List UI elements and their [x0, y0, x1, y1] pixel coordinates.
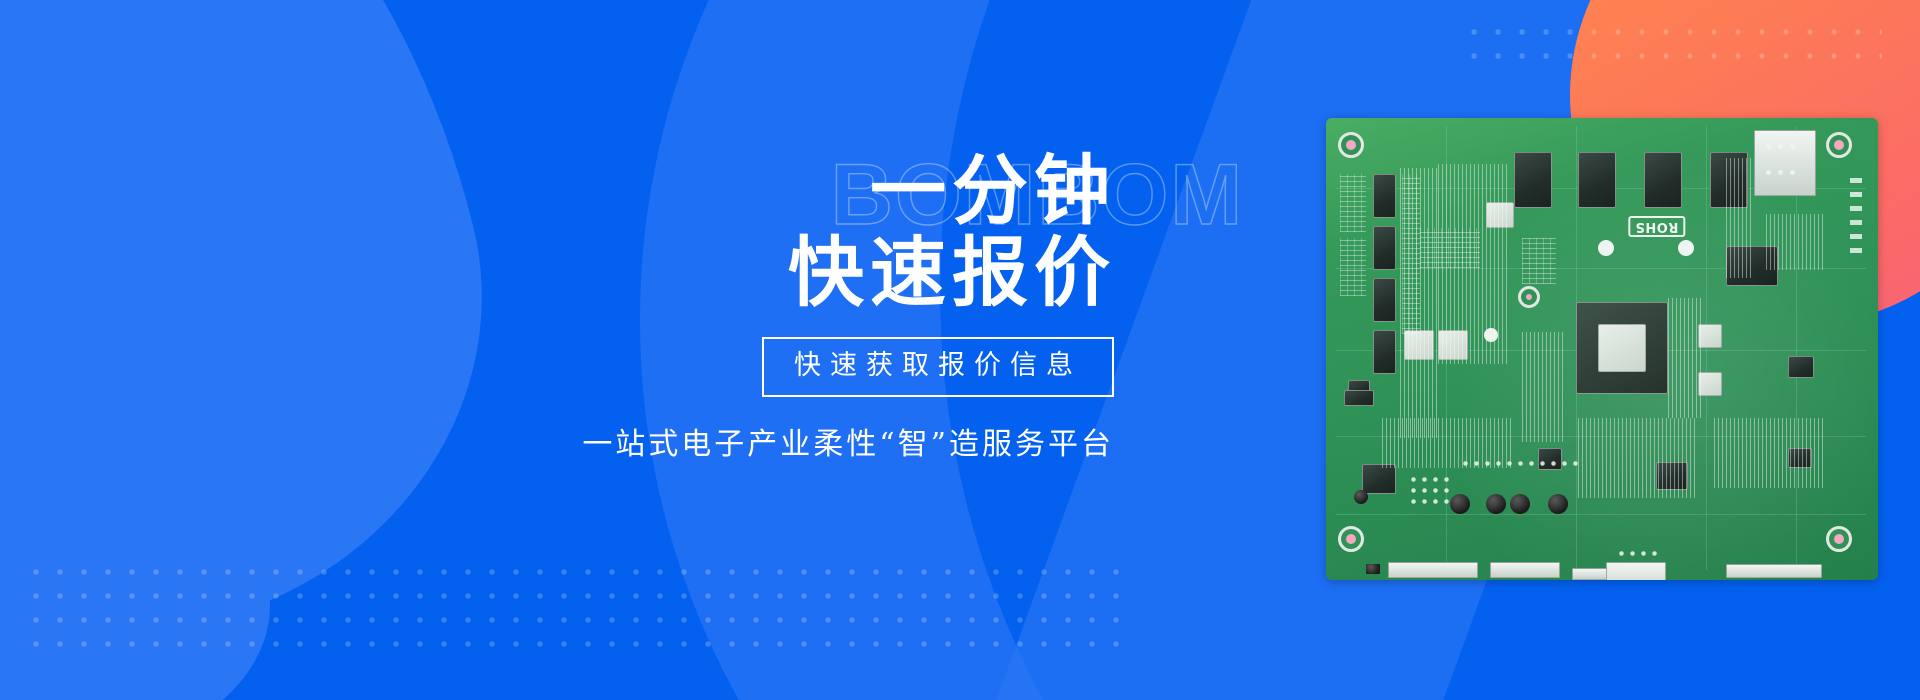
- copy-block: BOMBOM 一分钟 快速报价 快速获取报价信息 一站式电子产业柔性“智”造服务…: [494, 152, 1114, 463]
- io-tab: [1366, 564, 1380, 574]
- silkscreen-array: [1714, 418, 1824, 488]
- silkscreen: [1790, 170, 1795, 175]
- silkscreen-array: [1668, 298, 1704, 418]
- ic-chip: [1373, 330, 1396, 374]
- silkscreen-array: [1340, 174, 1366, 232]
- io-connector: [1490, 562, 1560, 578]
- silkscreen: [1766, 144, 1771, 149]
- mounting-pad: [1338, 526, 1364, 552]
- memory-chip: [1644, 152, 1682, 208]
- card-connector: [1754, 130, 1816, 196]
- header-pin: [1850, 178, 1862, 183]
- tagline: 一站式电子产业柔性“智”造服务平台: [494, 419, 1114, 463]
- pad-array: [1408, 474, 1450, 506]
- rohs-marking: ROHS: [1628, 216, 1685, 237]
- silkscreen-array: [1766, 214, 1826, 270]
- test-pad: [1678, 240, 1694, 256]
- silkscreen-array: [1340, 238, 1366, 296]
- silkscreen-array: [1522, 332, 1566, 442]
- header-pin: [1850, 206, 1862, 211]
- io-connector: [1726, 564, 1822, 578]
- pad-array: [1616, 548, 1662, 558]
- silkscreen: [1766, 170, 1771, 175]
- pcb-board: ROHS: [1326, 118, 1878, 580]
- ic-chip: [1788, 356, 1814, 378]
- ic-chip: [1373, 278, 1396, 322]
- silkscreen-array: [1420, 228, 1480, 268]
- silkscreen: [1778, 144, 1783, 149]
- mounting-pad: [1338, 132, 1364, 158]
- capacitor: [1486, 494, 1506, 514]
- silkscreen-array: [1522, 238, 1556, 284]
- silkscreen-array: [1382, 418, 1512, 468]
- ic-chip: [1362, 464, 1396, 494]
- headline-line-2: 快速报价: [494, 234, 1116, 312]
- capacitor: [1548, 494, 1568, 514]
- pcb-circuit-board-image: ROHS: [1326, 118, 1878, 580]
- get-quote-button[interactable]: 快速获取报价信息: [762, 337, 1114, 397]
- capacitor: [1354, 490, 1368, 504]
- capacitor: [1510, 494, 1530, 514]
- capacitor: [1450, 494, 1470, 514]
- ic-chip: [1373, 226, 1396, 270]
- memory-chip: [1578, 152, 1616, 208]
- dot-grid-top-right-icon: [1462, 20, 1882, 72]
- silkscreen: [1778, 170, 1783, 175]
- mounting-pad: [1826, 526, 1852, 552]
- page-title: 一分钟 快速报价: [494, 152, 1116, 311]
- header-pin: [1850, 248, 1862, 253]
- io-connector: [1388, 562, 1478, 578]
- io-connector: [1606, 562, 1666, 580]
- mounting-pad: [1826, 132, 1852, 158]
- ic-chip: [1373, 174, 1396, 218]
- header-pin: [1850, 192, 1862, 197]
- silkscreen-array: [1726, 158, 1754, 278]
- mounting-pad: [1518, 286, 1540, 308]
- memory-chip: [1514, 152, 1552, 208]
- silkscreen: [1790, 144, 1795, 149]
- silkscreen-array: [1400, 168, 1440, 438]
- header-pin: [1850, 234, 1862, 239]
- promo-banner: BOMBOM 一分钟 快速报价 快速获取报价信息 一站式电子产业柔性“智”造服务…: [0, 0, 1920, 700]
- ic-chip: [1344, 390, 1374, 406]
- banner-content: BOMBOM 一分钟 快速报价 快速获取报价信息 一站式电子产业柔性“智”造服务…: [0, 0, 1340, 700]
- test-pad: [1598, 240, 1614, 256]
- headline-line-1: 一分钟: [494, 152, 1116, 230]
- silkscreen-array: [1578, 418, 1698, 498]
- cpu-die: [1598, 324, 1646, 372]
- header-pin: [1850, 220, 1862, 225]
